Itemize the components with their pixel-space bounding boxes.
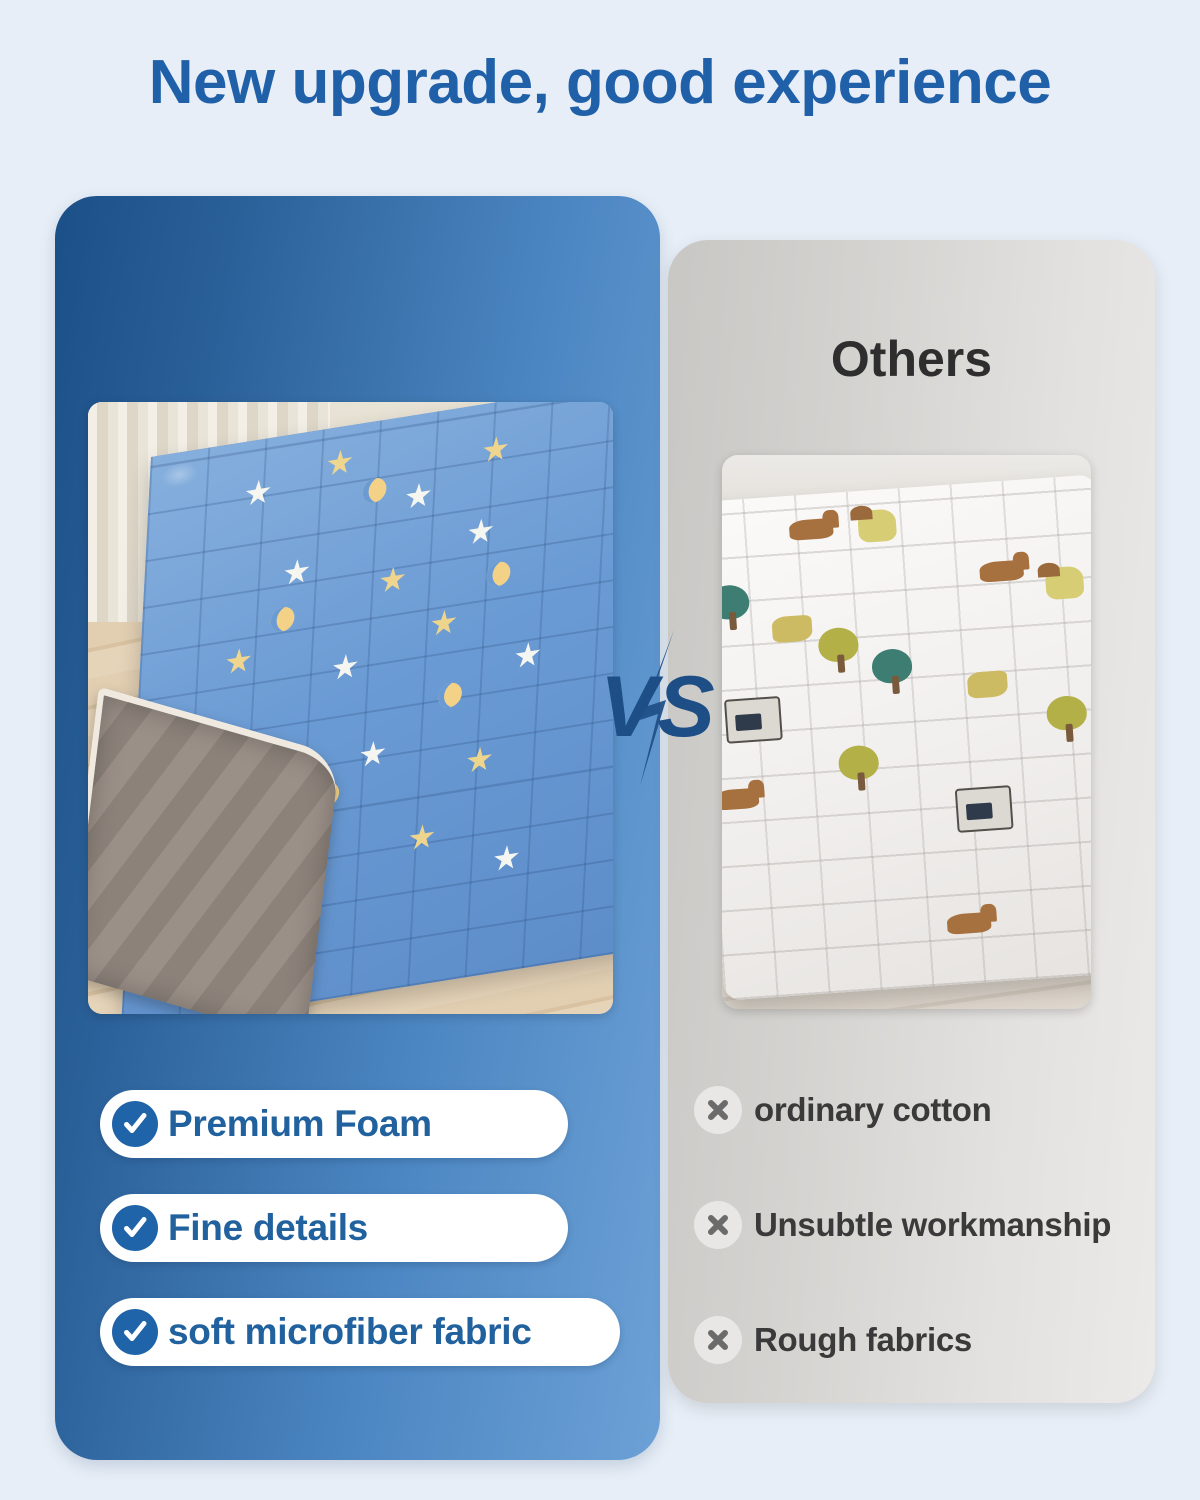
ours-feature-list: Premium Foam Fine details soft microfibe…: [100, 1090, 620, 1366]
others-photo-scene: [722, 455, 1091, 1009]
drawback-row-rough-fabrics[interactable]: Rough fabrics: [694, 1314, 1144, 1366]
owl-print: [1045, 566, 1085, 601]
vs-badge: VS: [596, 628, 726, 788]
feature-pill-premium-foam[interactable]: Premium Foam: [100, 1090, 568, 1158]
check-circle-icon: [112, 1309, 158, 1355]
owl-print: [858, 509, 898, 544]
feature-label: soft microfiber fabric: [168, 1311, 531, 1353]
drawback-label: Rough fabrics: [754, 1321, 972, 1359]
ours-product-photo: [88, 402, 613, 1014]
drawback-row-ordinary-cotton[interactable]: ordinary cotton: [694, 1084, 1144, 1136]
ours-comparison-card: Ours: [55, 196, 660, 1460]
others-comparison-card: Others: [668, 240, 1155, 1403]
check-circle-icon: [112, 1205, 158, 1251]
house-print: [955, 786, 1014, 834]
feature-pill-fine-details[interactable]: Fine details: [100, 1194, 568, 1262]
feature-label: Fine details: [168, 1207, 368, 1249]
check-circle-icon: [112, 1101, 158, 1147]
drawback-label: ordinary cotton: [754, 1091, 992, 1129]
x-circle-icon: [694, 1086, 742, 1134]
feature-label: Premium Foam: [168, 1103, 432, 1145]
vs-label: VS: [600, 659, 715, 755]
others-heading: Others: [668, 334, 1155, 384]
fox-print: [979, 560, 1024, 583]
x-circle-icon: [694, 1201, 742, 1249]
others-drawback-list: ordinary cotton Unsubtle workmanship Rou…: [694, 1084, 1144, 1366]
white-floor-mat: [722, 475, 1091, 1001]
feature-pill-soft-microfiber-fabric[interactable]: soft microfiber fabric: [100, 1298, 620, 1366]
drawback-row-unsubtle-workmanship[interactable]: Unsubtle workmanship: [694, 1199, 1144, 1251]
drawback-label: Unsubtle workmanship: [754, 1206, 1111, 1244]
others-product-photo: [722, 455, 1091, 1009]
house-print: [724, 697, 783, 745]
x-circle-icon: [694, 1316, 742, 1364]
ours-photo-scene: [88, 402, 613, 1014]
page-title: New upgrade, good experience: [0, 52, 1200, 114]
